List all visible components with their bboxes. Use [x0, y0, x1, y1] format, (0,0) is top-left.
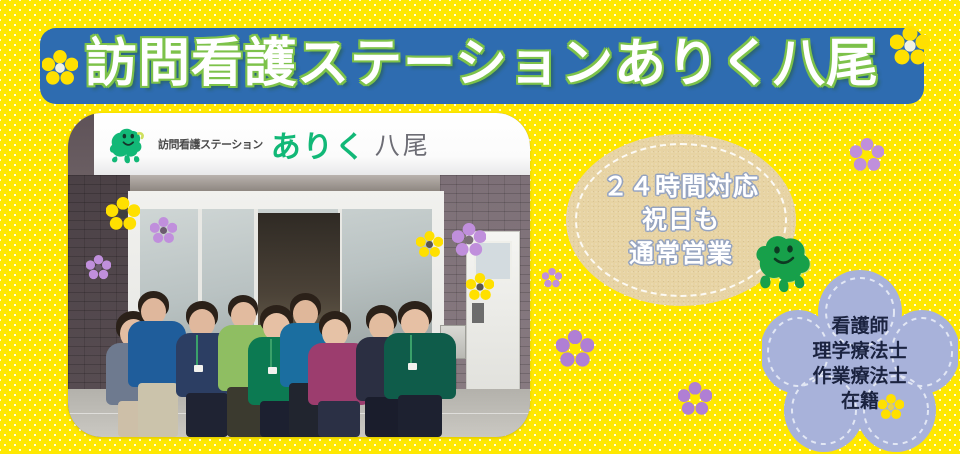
signboard-main-text: ありく: [271, 122, 367, 166]
staff-photo: 訪問看護ステーション ありく 八尾: [68, 113, 530, 437]
purple-flower-icon: [542, 268, 562, 288]
roles-line-3: 作業療法士: [812, 364, 907, 389]
signboard-branch-text: 八尾: [375, 126, 431, 162]
header-banner: 訪問看護ステーションありく八尾: [40, 28, 924, 104]
photo-side-door-window: [474, 241, 512, 281]
info-circle-line-3: 通常営業: [629, 238, 733, 269]
info-circle-line-1: ２４時間対応: [603, 171, 759, 202]
roles-flower-shape: 看護師 理学療法士 作業療法士 在籍: [762, 268, 958, 454]
promo-banner-root: 訪問看護ステーション ありく 八尾: [0, 0, 960, 454]
signboard-small-text: 訪問看護ステーション: [158, 136, 263, 152]
purple-flower-icon: [556, 330, 594, 368]
roles-line-4: 在籍: [841, 389, 879, 414]
roles-flower-text-block: 看護師 理学療法士 作業療法士 在籍: [762, 268, 958, 454]
photo-intercom: [472, 303, 484, 323]
purple-flower-icon: [678, 382, 712, 416]
photo-signboard: 訪問看護ステーション ありく 八尾: [94, 113, 530, 175]
roles-line-1: 看護師: [831, 314, 888, 339]
page-title: 訪問看護ステーションありく八尾: [40, 28, 924, 104]
info-circle-line-2: 祝日も: [642, 204, 720, 235]
purple-flower-icon: [850, 138, 884, 172]
green-caterpillar-mascot-icon: [752, 232, 818, 294]
photo-staff-member: [384, 301, 456, 437]
roles-line-2: 理学療法士: [812, 339, 907, 364]
signboard-caterpillar-mascot-icon: [106, 123, 148, 165]
